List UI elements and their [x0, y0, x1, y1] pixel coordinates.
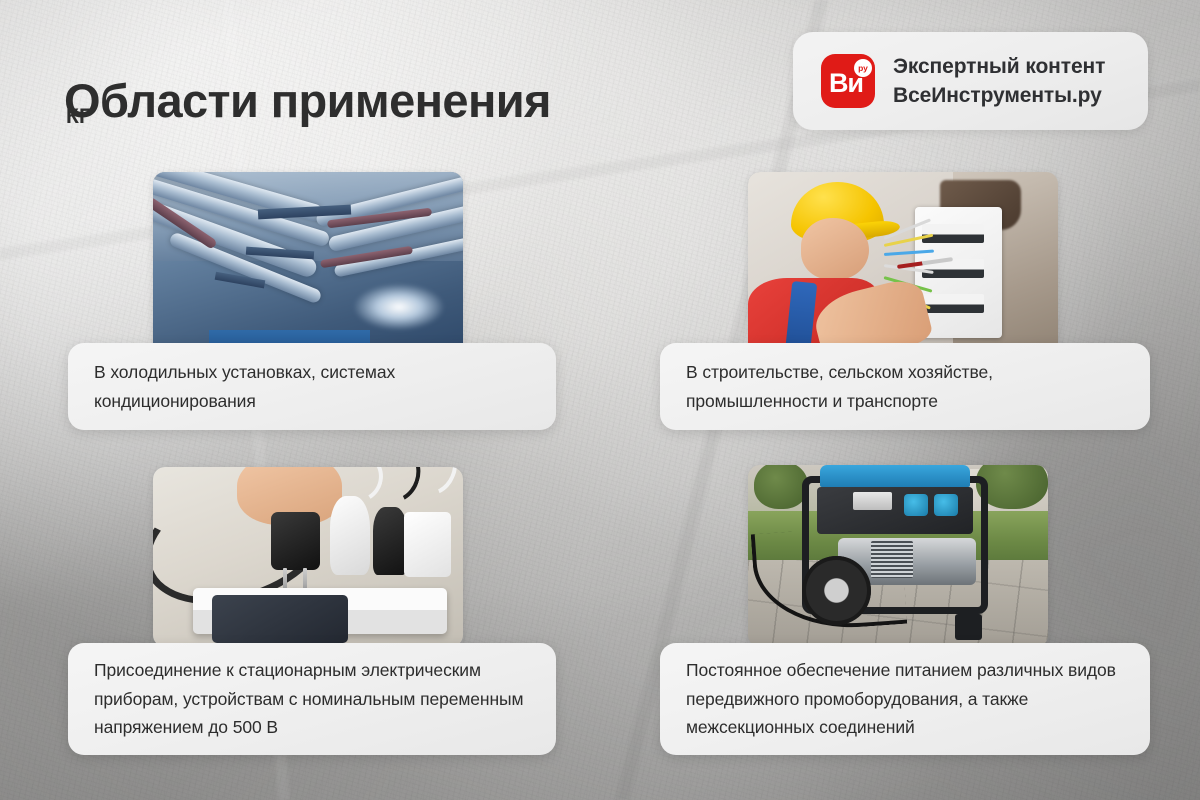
- card-1-photo: [153, 172, 463, 365]
- electrician-scene: [748, 172, 1058, 365]
- card-4-caption-text: Постоянное обеспечение питанием различны…: [686, 656, 1124, 741]
- hvac-ducts-scene: [153, 172, 463, 365]
- brand-line-1: Экспертный контент: [893, 54, 1105, 80]
- power-strip-scene: [153, 467, 463, 647]
- vseinstrumenty-logo-icon: Ви ру: [821, 54, 875, 108]
- logo-ru-superscript: ру: [854, 59, 872, 77]
- page-title: Области применения: [64, 76, 551, 125]
- brand-line-2: ВсеИнструменты.ру: [893, 83, 1105, 109]
- portable-generator-scene: [748, 465, 1048, 647]
- card-4-caption: Постоянное обеспечение питанием различны…: [660, 643, 1150, 755]
- card-3-photo: [153, 467, 463, 647]
- brand-badge[interactable]: Ви ру Экспертный контент ВсеИнструменты.…: [793, 32, 1148, 130]
- card-1-caption-text: В холодильных установках, системах конди…: [94, 358, 530, 415]
- card-2-caption-text: В строительстве, сельском хозяйстве, про…: [686, 358, 1124, 415]
- page-subtitle: КГ: [66, 105, 91, 129]
- card-2-caption: В строительстве, сельском хозяйстве, про…: [660, 343, 1150, 430]
- card-2-photo: [748, 172, 1058, 365]
- card-3-caption-text: Присоединение к стационарным электрическ…: [94, 656, 530, 741]
- card-1-caption: В холодильных установках, системах конди…: [68, 343, 556, 430]
- card-3-caption: Присоединение к стационарным электрическ…: [68, 643, 556, 755]
- card-4-photo: [748, 465, 1048, 647]
- brand-text: Экспертный контент ВсеИнструменты.ру: [893, 54, 1105, 108]
- slide-canvas: Области применения КГ Ви ру Экспертный к…: [0, 0, 1200, 800]
